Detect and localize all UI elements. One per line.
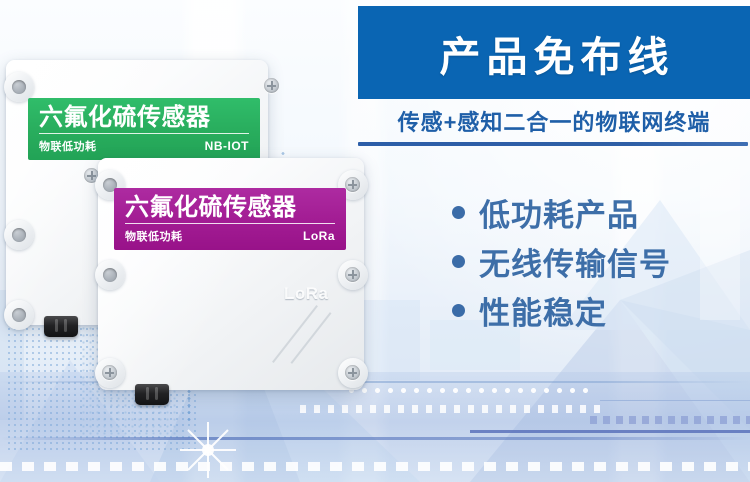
background-rule-c (470, 430, 750, 433)
bullet-dot-icon (452, 304, 465, 317)
case-screw-mid-right (345, 267, 360, 282)
bullet-dot-icon (452, 255, 465, 268)
product-promo-banner: 六氟化硫传感器 物联低功耗 NB-IOT LoRa 六氟化硫传感器 (0, 0, 750, 482)
feature-item: 无线传输信号 (452, 237, 750, 286)
product-label-protocol: LoRa (303, 229, 335, 243)
product-label-footer: 物联低功耗 LoRa (125, 228, 335, 244)
product-label-title: 六氟化硫传感器 (39, 105, 249, 130)
subheadline-underline (358, 142, 748, 146)
product-label-tagline: 物联低功耗 (39, 138, 97, 154)
cable-gland-nbiot (44, 316, 78, 337)
sensor-device-lora: LoRa 六氟化硫传感器 物联低功耗 LoRa (98, 158, 364, 390)
background-dot-row (345, 387, 595, 394)
product-label-title: 六氟化硫传感器 (125, 195, 335, 220)
mounting-ear-mid-left (95, 260, 125, 290)
product-label-divider (125, 223, 335, 224)
headline-band: 产品免布线 (358, 6, 750, 99)
feature-label: 低功耗产品 (479, 190, 639, 235)
feature-item: 低功耗产品 (452, 188, 750, 237)
subheadline-text: 传感+感知二合一的物联网终端 (358, 105, 750, 137)
feature-label: 性能稳定 (479, 288, 607, 333)
background-dash-row-mid (300, 405, 600, 413)
product-label-plate-nbiot: 六氟化硫传感器 物联低功耗 NB-IOT (28, 98, 260, 160)
feature-list: 低功耗产品 无线传输信号 性能稳定 (452, 188, 750, 335)
feature-label: 无线传输信号 (479, 239, 671, 284)
sparkle-icon (178, 420, 238, 480)
background-dash-row-right (590, 416, 750, 424)
product-label-plate-lora: 六氟化硫传感器 物联低功耗 LoRa (114, 188, 346, 250)
product-label-divider (39, 133, 249, 134)
case-screw-bottom-left (102, 365, 117, 380)
product-label-footer: 物联低功耗 NB-IOT (39, 138, 249, 154)
feature-item: 性能稳定 (452, 286, 750, 335)
cable-gland-lora (135, 384, 169, 405)
bullet-dot-icon (452, 206, 465, 219)
headline-text: 产品免布线 (358, 6, 750, 99)
case-screw-top-right (345, 177, 360, 192)
case-screw-bottom-right (345, 365, 360, 380)
mounting-ear-bottom-left (4, 300, 34, 330)
background-rule-b (0, 437, 750, 440)
mounting-ear-mid-left (4, 220, 34, 250)
case-screw-top-right (264, 78, 279, 93)
background-rule-d (600, 400, 750, 401)
background-dash-row-bottom (0, 462, 750, 471)
product-label-tagline: 物联低功耗 (125, 228, 183, 244)
device-watermark-lora: LoRa (284, 284, 329, 304)
product-label-protocol: NB-IOT (205, 139, 249, 153)
